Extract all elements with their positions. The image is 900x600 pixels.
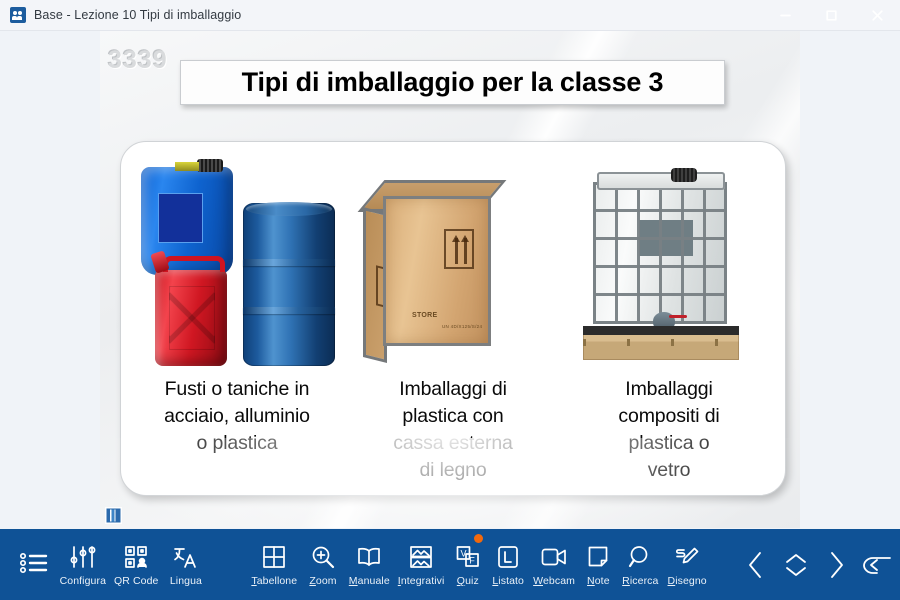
- crate-front-panel-shape: STORE UN 4D/X125/S/24: [383, 196, 491, 346]
- title-bar: Base - Lezione 10 Tipi di imballaggio: [0, 0, 900, 31]
- ibc-top-frame-shape: [597, 172, 725, 190]
- qr-code-icon: [124, 542, 148, 572]
- this-way-up-arrows-icon: [444, 229, 474, 269]
- sliders-icon: [70, 542, 96, 572]
- wooden-crate-photo: STORE UN 4D/X125/S/24: [345, 156, 561, 368]
- workspace: 3339 Tipi di imballaggio per la classe 3: [0, 31, 900, 529]
- toolbar-button-manuale[interactable]: Manuale: [345, 536, 394, 594]
- item-caption: Fusti o taniche in acciaio, alluminio o …: [164, 376, 310, 457]
- wooden-pallet-shape: [583, 326, 739, 360]
- bottom-toolbar: Configura QR Code Lingua: [0, 529, 900, 600]
- toolbar-button-tabellone[interactable]: Tabellone: [247, 536, 301, 594]
- open-book-icon: [356, 542, 382, 572]
- chevron-left-icon: [745, 550, 767, 580]
- toolbar-label: Configura: [60, 575, 106, 587]
- minimize-icon[interactable]: [762, 0, 808, 31]
- toolbar-button-integrativi[interactable]: Integrativi: [394, 536, 449, 594]
- steel-drum-and-jerrycans-photo: [129, 156, 345, 368]
- group-people-icon: [10, 7, 26, 23]
- packaging-item-1: Fusti o taniche in acciaio, alluminio o …: [129, 156, 345, 489]
- toolbar-button-quiz[interactable]: V F Quiz: [448, 536, 487, 594]
- crate-code-mark: UN 4D/X125/S/24: [442, 324, 482, 329]
- toolbar-label: QR Code: [114, 575, 158, 587]
- search-magnifier-icon: [628, 542, 652, 572]
- slide-title-box: Tipi di imballaggio per la classe 3: [180, 60, 725, 105]
- true-false-cards-icon: V F: [456, 542, 480, 572]
- toolbar-label: Quiz: [457, 575, 479, 587]
- content-card: Fusti o taniche in acciaio, alluminio o …: [120, 141, 786, 496]
- svg-text:F: F: [469, 556, 475, 566]
- translate-icon: [173, 542, 199, 572]
- toolbar-label: Note: [587, 575, 610, 587]
- maximize-icon[interactable]: [808, 0, 854, 31]
- pencil-draw-icon: [674, 542, 700, 572]
- slide-number: 3339: [108, 46, 168, 75]
- canister-cap-icon: [197, 159, 223, 172]
- toolbar-button-note[interactable]: Note: [579, 536, 618, 594]
- toolbar-label: Ricerca: [622, 575, 658, 587]
- nav-previous-button[interactable]: [735, 536, 775, 594]
- toolbar-button-menu-list[interactable]: [12, 536, 56, 594]
- toolbar-label: Tabellone: [251, 575, 297, 587]
- note-page-icon: [587, 542, 609, 572]
- ibc-metal-cage-shape: [593, 182, 727, 324]
- toolbar-label: Manuale: [349, 575, 390, 587]
- window-title: Base - Lezione 10 Tipi di imballaggio: [34, 8, 241, 22]
- steel-drum-shape: [243, 203, 335, 366]
- item-caption: Imballaggi di plastica con cassa esterna…: [393, 376, 512, 484]
- item-caption: Imballaggi compositi di plastica o vetro: [618, 376, 719, 484]
- grid-table-icon: [262, 542, 286, 572]
- window-controls: [762, 0, 900, 31]
- qr-code-badge[interactable]: [105, 507, 122, 524]
- toolbar-button-lingua[interactable]: Lingua: [163, 536, 210, 594]
- red-metal-jerrycan-shape: [155, 270, 227, 366]
- nav-back-button[interactable]: [856, 536, 900, 594]
- packaging-item-3: Imballaggi compositi di plastica o vetro: [561, 156, 777, 489]
- toolbar-label: Listato: [492, 575, 524, 587]
- toolbar-label: Webcam: [533, 575, 575, 587]
- toolbar-button-zoom[interactable]: Zoom: [301, 536, 345, 594]
- toolbar-button-webcam[interactable]: Webcam: [529, 536, 579, 594]
- bulleted-list-icon: [19, 548, 49, 578]
- toolbar-button-listato[interactable]: Listato: [487, 536, 529, 594]
- toolbar-button-configura[interactable]: Configura: [56, 536, 110, 594]
- toolbar-button-qr-code[interactable]: QR Code: [110, 536, 162, 594]
- magnifier-plus-icon: [311, 542, 335, 572]
- slide-canvas[interactable]: 3339 Tipi di imballaggio per la classe 3: [100, 31, 800, 528]
- toolbar-label: Integrativi: [398, 575, 445, 587]
- packaging-item-2: STORE UN 4D/X125/S/24 Imballaggi di plas…: [345, 156, 561, 489]
- toolbar-label: Zoom: [309, 575, 336, 587]
- chevron-right-icon: [825, 550, 847, 580]
- notification-badge: [474, 534, 483, 543]
- toolbar-label: Lingua: [170, 575, 202, 587]
- chevron-up-down-icon: [782, 550, 810, 580]
- toolbar-button-ricerca[interactable]: Ricerca: [618, 536, 663, 594]
- nav-next-button[interactable]: [816, 536, 856, 594]
- listing-l-icon: [497, 542, 519, 572]
- application-window: Base - Lezione 10 Tipi di imballaggio 33…: [0, 0, 900, 600]
- crate-brand-mark: STORE: [412, 312, 438, 319]
- video-camera-icon: [541, 542, 567, 572]
- toolbar-label: Disegno: [668, 575, 707, 587]
- svg-text:V: V: [460, 549, 466, 559]
- ibc-filler-cap-icon: [671, 168, 697, 182]
- ibc-composite-tank-photo: [561, 156, 777, 368]
- close-icon[interactable]: [854, 0, 900, 31]
- toolbar-button-disegno[interactable]: Disegno: [663, 536, 711, 594]
- page-title: Tipi di imballaggio per la classe 3: [242, 67, 664, 98]
- return-arrow-icon: [862, 550, 894, 580]
- nav-updown-button[interactable]: [776, 536, 816, 594]
- images-stack-icon: [409, 542, 433, 572]
